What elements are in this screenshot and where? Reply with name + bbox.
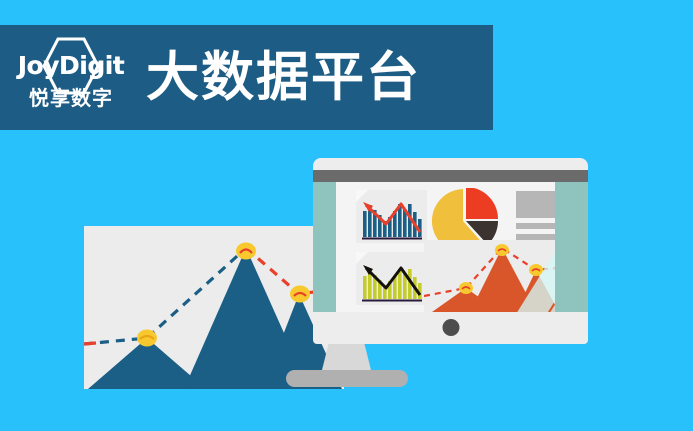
monitor-stand-neck [322, 344, 372, 372]
page-fold-corner [356, 252, 368, 264]
monitor-stand-base [286, 370, 408, 387]
header-banner: JoyDigit 悦享数字 大数据平台 [0, 25, 493, 130]
brand-wordmark: JoyDigit [18, 53, 125, 78]
page-title: 大数据平台 [146, 51, 421, 104]
data-marker [529, 264, 543, 276]
data-marker [137, 330, 157, 347]
left-panel-graphic [84, 226, 344, 389]
brand-subtitle: 悦享数字 [29, 89, 113, 109]
monitor-camera-dot [442, 319, 459, 336]
desktop-monitor [313, 158, 588, 344]
monitor-top-strip [313, 170, 588, 182]
placeholder-heading [516, 191, 555, 218]
data-marker [495, 244, 509, 256]
brand-logo: JoyDigit 悦享数字 [12, 30, 130, 125]
monitor-screen [313, 182, 588, 312]
data-marker [459, 282, 473, 294]
pie-slice-secondary [466, 188, 498, 219]
data-marker [290, 286, 310, 303]
mountain-line-chart-orange [424, 240, 555, 312]
bar-line-card-olive[interactable] [356, 252, 427, 305]
placeholder-line [516, 223, 555, 229]
data-marker [236, 243, 256, 260]
bar-line-card-blue[interactable] [356, 190, 427, 243]
mountain-line-panel [84, 226, 344, 389]
poster-canvas: JoyDigit 悦享数字 大数据平台 [0, 0, 693, 431]
page-fold-corner [356, 190, 368, 202]
trend-line-red-tail [84, 343, 96, 344]
right-chart-graphic [424, 240, 555, 312]
dashboard-surface [336, 182, 555, 312]
